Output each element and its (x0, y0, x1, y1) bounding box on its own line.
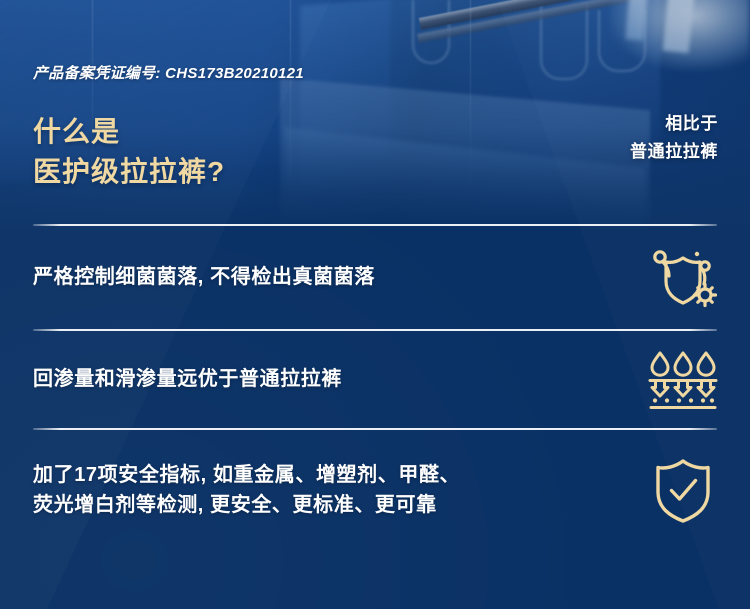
comparison-caption: 相比于 普通拉拉裤 (630, 110, 718, 165)
shield-germ-icon (646, 241, 720, 315)
feature-row: 严格控制细菌菌落, 不得检出真菌菌落 (0, 226, 750, 329)
feature-row: 加了17项安全指标, 如重金属、增塑剂、甲醛、 荧光增白剂等检测, 更安全、更标… (0, 430, 750, 550)
feature-text-line-2: 荧光增白剂等检测, 更安全、更标准、更可靠 (33, 490, 460, 520)
feature-text: 加了17项安全指标, 如重金属、增塑剂、甲醛、 荧光增白剂等检测, 更安全、更标… (33, 460, 460, 521)
headline-line-1: 什么是 (33, 116, 120, 147)
feature-text: 回渗量和滑渗量远优于普通拉拉裤 (33, 364, 342, 394)
feature-text-line-1: 加了17项安全指标, 如重金属、增塑剂、甲醛、 (33, 464, 460, 486)
comparison-line-2: 普通拉拉裤 (630, 138, 718, 166)
feature-row: 回渗量和滑渗量远优于普通拉拉裤 (0, 331, 750, 428)
headline-line-2: 医护级拉拉裤? (33, 152, 225, 192)
registration-number: 产品备案凭证编号: CHS173B20210121 (33, 62, 304, 83)
feature-list: 严格控制细菌菌落, 不得检出真菌菌落 (0, 224, 750, 550)
feature-text: 严格控制细菌菌落, 不得检出真菌菌落 (33, 262, 375, 292)
feature-text-line-1: 回渗量和滑渗量远优于普通拉拉裤 (33, 368, 342, 390)
page-title: 什么是 医护级拉拉裤? (33, 112, 225, 192)
shield-check-icon (646, 453, 720, 527)
feature-text-line-1: 严格控制细菌菌落, 不得检出真菌菌落 (33, 266, 375, 288)
comparison-line-1: 相比于 (665, 114, 718, 133)
droplet-absorption-icon (646, 343, 720, 417)
product-feature-poster: 产品备案凭证编号: CHS173B20210121 什么是 医护级拉拉裤? 相比… (0, 0, 750, 609)
